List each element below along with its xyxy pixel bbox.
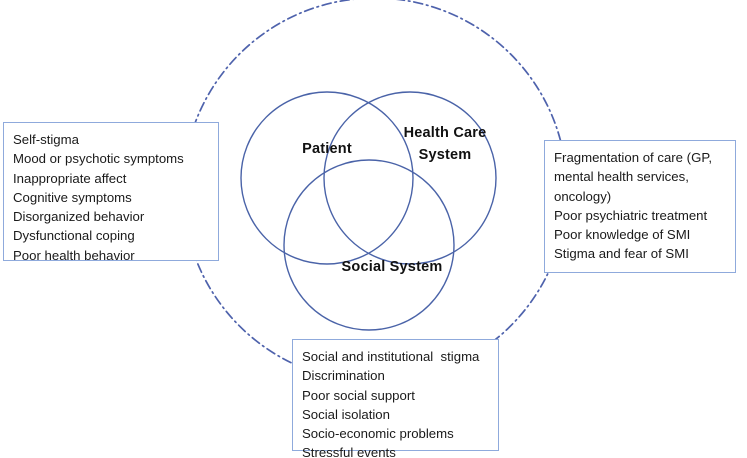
health-care-system-circle xyxy=(324,92,496,264)
list-item: Fragmentation of care (GP, xyxy=(554,148,726,167)
list-item: Discrimination xyxy=(302,366,489,385)
list-item: Poor psychiatric treatment xyxy=(554,206,726,225)
list-item: Poor health behavior xyxy=(13,246,209,265)
list-item: Dysfunctional coping xyxy=(13,226,209,245)
list-item: Cognitive symptoms xyxy=(13,188,209,207)
patient-factors-box: Self-stigma Mood or psychotic symptoms I… xyxy=(3,122,219,261)
list-item: Stressful events xyxy=(302,443,489,458)
list-item: Disorganized behavior xyxy=(13,207,209,226)
patient-circle-label: Patient xyxy=(272,138,382,160)
diagram-canvas: Patient Health Care System Social System… xyxy=(0,0,747,458)
list-item: Socio-economic problems xyxy=(302,424,489,443)
list-item: Poor knowledge of SMI xyxy=(554,225,726,244)
list-item: mental health services, xyxy=(554,167,726,186)
list-item: Inappropriate affect xyxy=(13,169,209,188)
health-care-system-circle-label: Health Care System xyxy=(390,122,500,167)
social-system-factors-box: Social and institutional stigma Discrimi… xyxy=(292,339,499,451)
list-item: Social and institutional stigma xyxy=(302,347,489,366)
social-system-circle-label: Social System xyxy=(322,256,462,278)
list-item: Stigma and fear of SMI xyxy=(554,244,726,263)
outer-boundary-circle xyxy=(183,0,567,382)
list-item: Self-stigma xyxy=(13,130,209,149)
list-item: oncology) xyxy=(554,187,726,206)
list-item: Mood or psychotic symptoms xyxy=(13,149,209,168)
patient-circle xyxy=(241,92,413,264)
list-item: Social isolation xyxy=(302,405,489,424)
health-care-system-factors-box: Fragmentation of care (GP, mental health… xyxy=(544,140,736,273)
list-item: Poor social support xyxy=(302,386,489,405)
social-system-circle xyxy=(284,160,454,330)
